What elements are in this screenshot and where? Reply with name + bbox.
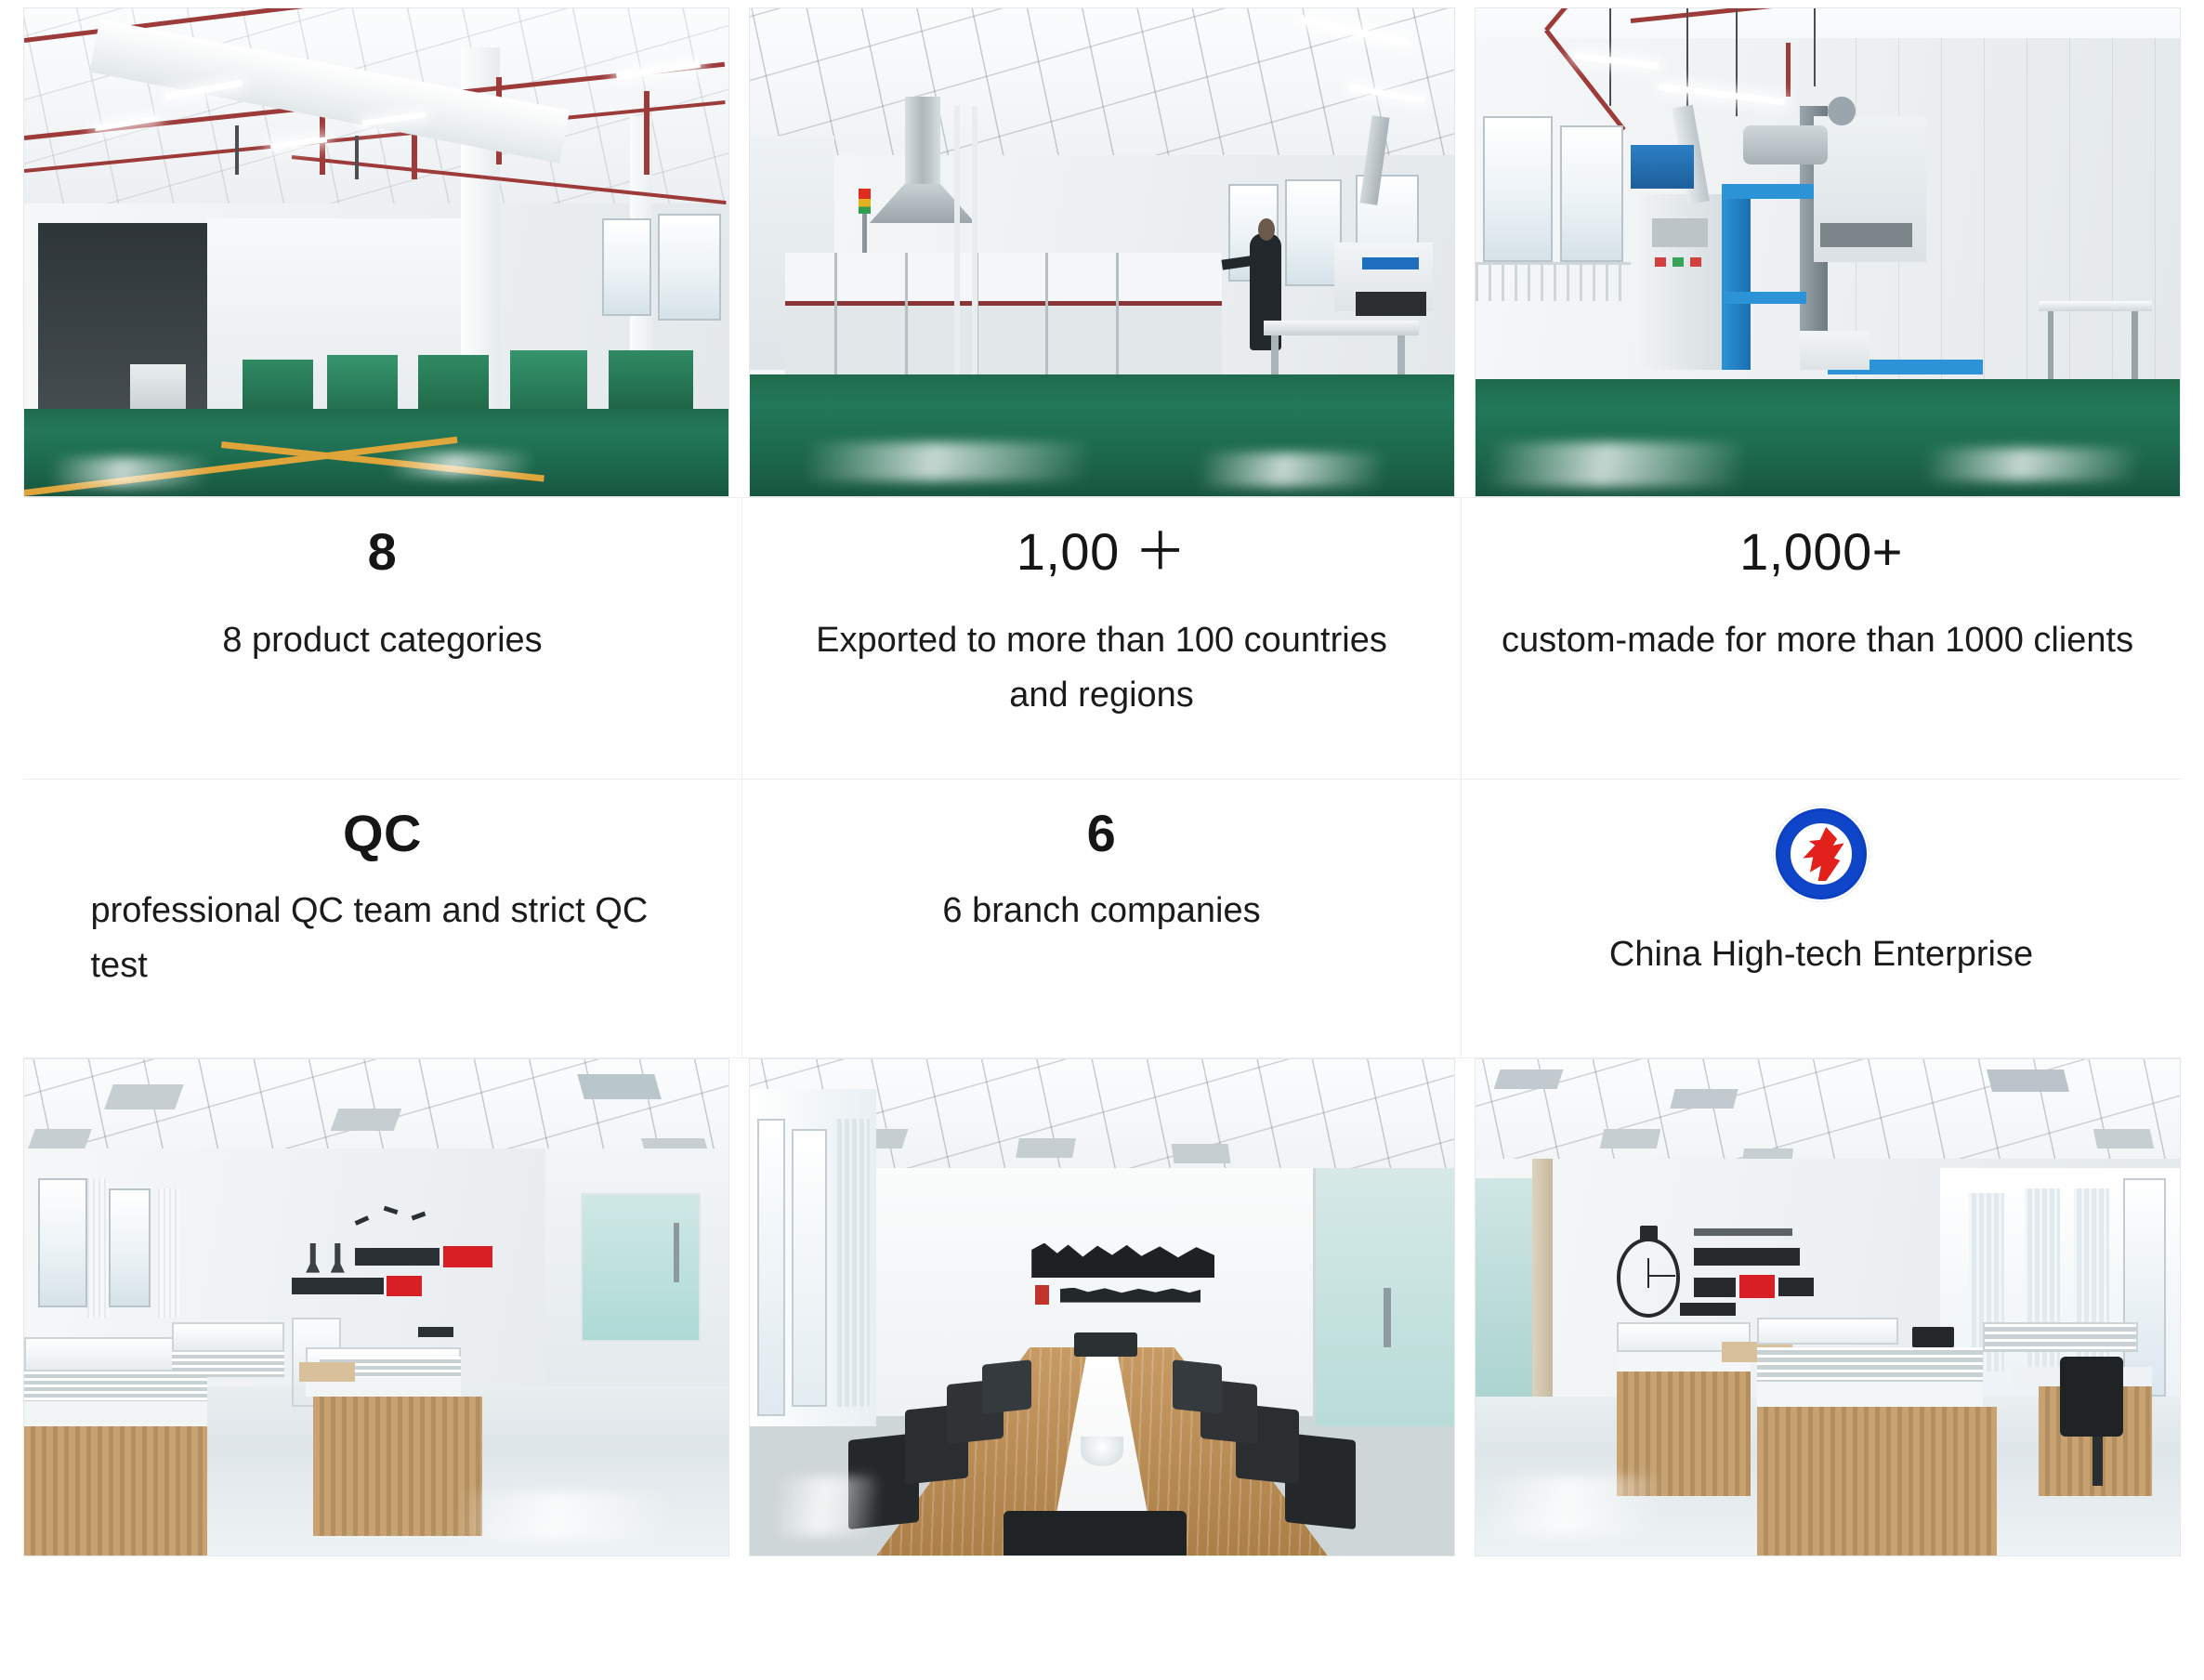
photo-blue-testing-machine xyxy=(1475,7,2181,497)
photo-conference-room xyxy=(749,1058,1455,1556)
stat-number-export-countries: 1,00 ＋ xyxy=(1017,522,1187,582)
stat-number-qc-team: QC xyxy=(343,804,422,863)
photo-staff-workstations xyxy=(1475,1058,2181,1556)
stat-cell-high-tech-enterprise: China High-tech Enterprise xyxy=(1462,779,2181,1057)
stat-description-product-categories: 8 product categories xyxy=(222,613,542,668)
photo-workshop-assembly-line xyxy=(23,7,729,497)
flame-icon xyxy=(1798,827,1848,881)
photo-production-tunnel-furnace xyxy=(749,7,1455,497)
stat-description-export-countries: Exported to more than 100 countries and … xyxy=(805,613,1399,723)
stat-cell-qc-team: QC professional QC team and strict QC te… xyxy=(23,779,742,1057)
stat-description-high-tech-enterprise: China High-tech Enterprise xyxy=(1609,930,2033,979)
stat-number-branch-companies: 6 xyxy=(1087,804,1117,863)
stat-description-qc-team: professional QC team and strict QC test xyxy=(85,884,680,993)
top-photo-row xyxy=(0,0,2204,497)
stat-cell-branch-companies: 6 6 branch companies xyxy=(742,779,1462,1057)
company-profile-banner: 8 8 product categories 1,00 ＋ Exported t… xyxy=(0,0,2204,1680)
photo-open-plan-office xyxy=(23,1058,729,1556)
stats-grid: 8 8 product categories 1,00 ＋ Exported t… xyxy=(23,497,2181,1058)
china-high-tech-enterprise-logo-icon xyxy=(1773,806,1869,902)
stat-cell-custom-clients: 1,000+ custom-made for more than 1000 cl… xyxy=(1462,498,2181,779)
stat-cell-export-countries: 1,00 ＋ Exported to more than 100 countri… xyxy=(742,498,1462,779)
stat-cell-product-categories: 8 8 product categories xyxy=(23,498,742,779)
stat-description-custom-clients: custom-made for more than 1000 clients xyxy=(1496,613,2146,668)
stat-number-product-categories: 8 xyxy=(368,522,398,582)
bottom-photo-row xyxy=(0,1058,2204,1556)
stat-number-custom-clients: 1,000+ xyxy=(1739,522,1903,582)
stat-description-branch-companies: 6 branch companies xyxy=(942,884,1260,938)
